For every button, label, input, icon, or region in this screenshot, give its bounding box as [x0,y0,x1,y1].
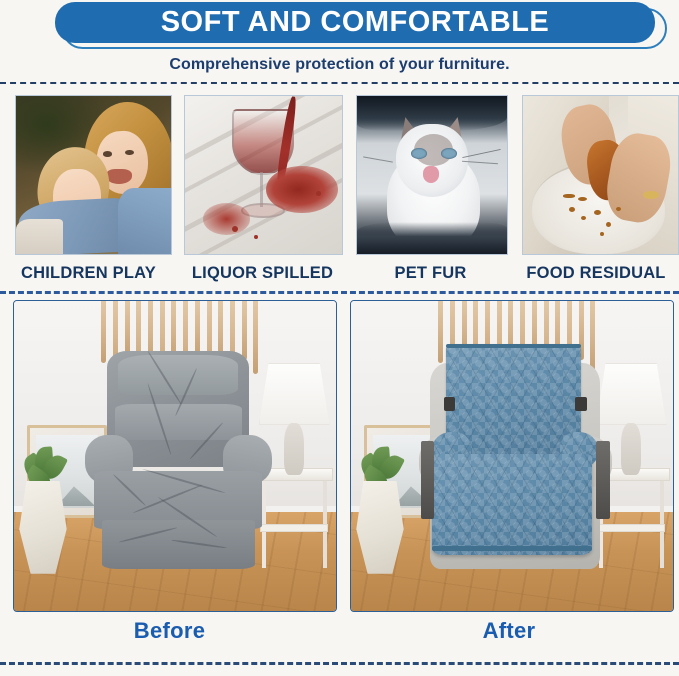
feature-label-food-residual: FOOD RESIDUAL [526,264,665,283]
food-crumb [600,232,604,236]
cat-eye-left [411,148,428,159]
cat-tongue [423,166,440,183]
finger-ring [643,191,659,199]
recliner-headrest [118,355,238,395]
older-girl-eye-left [103,151,112,157]
feature-label-pet-fur: PET FUR [395,264,467,283]
pet-fur-photo [356,95,508,255]
before-after-comparison: Before [0,300,679,658]
food-crumb [569,207,575,212]
header-banner: SOFT AND COMFORTABLE [0,0,679,52]
food-crumb [563,194,575,198]
wine-droplet [232,226,238,232]
uncovered-recliner [85,351,272,574]
slipcover-bottom-trim [432,546,592,551]
feature-item-pet-fur: PET FUR [348,95,513,285]
older-girl-eye-right [125,150,134,156]
food-crumb [594,210,601,215]
banner-solid-shape: SOFT AND COMFORTABLE [55,2,655,43]
divider-bottom [0,662,679,665]
food-residual-photo [522,95,679,255]
recliner-footrest [102,520,255,569]
compare-label-before: Before [134,618,206,644]
macrame-strand [125,301,130,357]
after-room-photo [350,300,674,612]
feature-row: CHILDREN PLAY LIQUOR SPILLED [0,95,679,285]
divider-top [0,82,679,84]
white-dress [16,219,63,254]
lamp-base [284,423,304,474]
feature-label-liquor-spilled: LIQUOR SPILLED [192,264,333,283]
slipcover-strap-right [575,397,587,411]
liquor-spilled-photo [184,95,343,255]
slipcover-seat-panel [432,454,592,555]
compare-label-after: After [483,618,536,644]
slipcover-strap-left [444,397,456,411]
cat-eye-right [441,148,458,159]
slipcover-side-flap-right [596,441,610,519]
compare-panel-after: After [339,300,679,658]
dark-foreground-bottom [357,222,507,254]
children-play-photo [15,95,172,255]
page-title: SOFT AND COMFORTABLE [161,8,550,37]
wine-splash-main [266,166,338,213]
feature-item-liquor-spilled: LIQUOR SPILLED [177,95,348,285]
slipcover-side-flap-left [421,441,435,519]
wine-droplet [254,235,258,239]
food-crumb [616,207,621,211]
cat-whisker [462,149,500,158]
before-room-photo [13,300,337,612]
compare-panel-before: Before [0,300,339,658]
lamp-base [621,423,641,474]
denim-sleeve [118,188,171,254]
wine-glass-stem [260,172,263,207]
covered-recliner [419,344,612,573]
feature-item-children-play: CHILDREN PLAY [0,95,177,285]
cat-whisker [363,157,393,163]
page-subtitle: Comprehensive protection of your furnitu… [0,56,679,74]
feature-label-children-play: CHILDREN PLAY [21,264,156,283]
feature-item-food-residual: FOOD RESIDUAL [513,95,679,285]
divider-middle [0,291,679,294]
slipcover-top-trim [446,344,581,348]
